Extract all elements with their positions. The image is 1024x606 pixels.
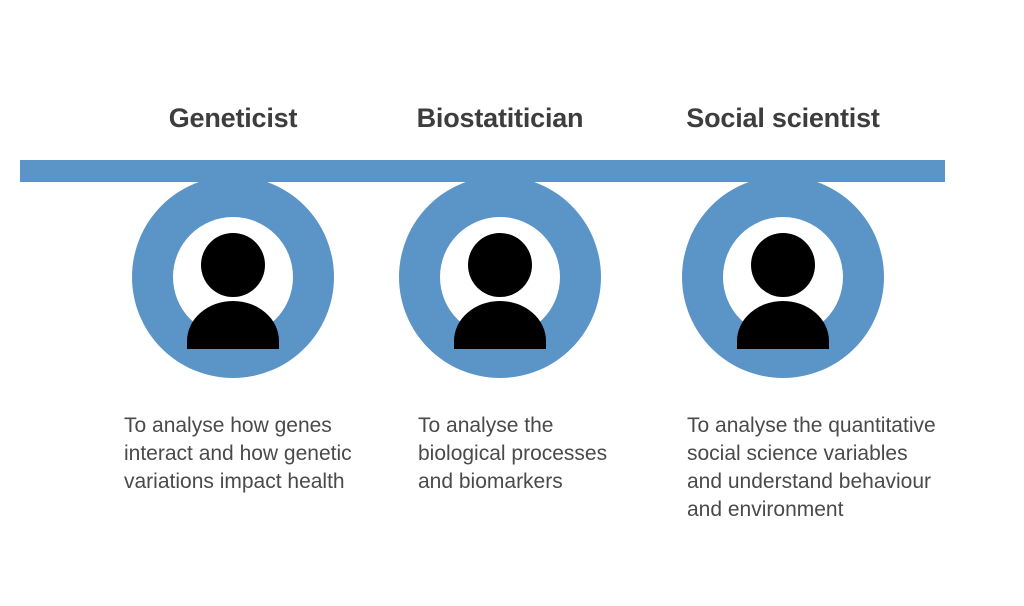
role-title-social-scientist: Social scientist: [613, 101, 953, 135]
role-description-social-scientist: To analyse the quantitative social scien…: [687, 412, 939, 524]
role-column-social-scientist: Social scientist To analyse the quantita…: [613, 0, 953, 606]
person-avatar-icon: [132, 176, 334, 378]
person-avatar-icon: [399, 176, 601, 378]
person-head-icon: [201, 233, 265, 297]
person-avatar-icon: [682, 176, 884, 378]
person-head-icon: [751, 233, 815, 297]
team-roles-diagram: Geneticist To analyse how genes interact…: [0, 0, 1024, 606]
role-description-biostatitician: To analyse the biological processes and …: [418, 412, 623, 496]
person-head-icon: [468, 233, 532, 297]
